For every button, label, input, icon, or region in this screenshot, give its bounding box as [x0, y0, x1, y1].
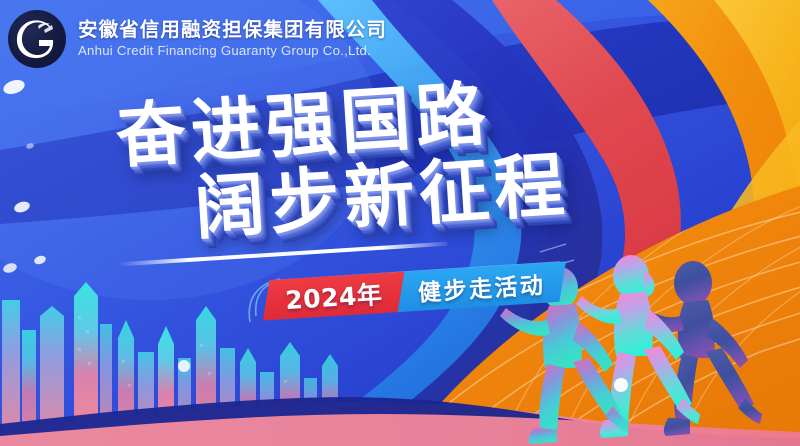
subtitle-year-label: 2024年	[284, 275, 383, 317]
company-name-english: Anhui Credit Financing Guaranty Group Co…	[78, 44, 387, 58]
company-g-mark-icon	[8, 10, 66, 68]
promotional-banner: 安徽省信用融资担保集团有限公司 Anhui Credit Financing G…	[0, 0, 800, 446]
headline-line-2: 阔步新征程	[192, 150, 571, 243]
brand-name-block: 安徽省信用融资担保集团有限公司 Anhui Credit Financing G…	[78, 20, 387, 58]
subtitle-event-label: 健步走活动	[417, 266, 546, 308]
brand-lockup: 安徽省信用融资担保集团有限公司 Anhui Credit Financing G…	[8, 10, 387, 68]
headline-block: 奋进强国路 阔步新征程	[114, 74, 571, 248]
company-name-chinese: 安徽省信用融资担保集团有限公司	[78, 20, 387, 41]
headline-line-2-text: 阔步新征程	[192, 150, 571, 243]
